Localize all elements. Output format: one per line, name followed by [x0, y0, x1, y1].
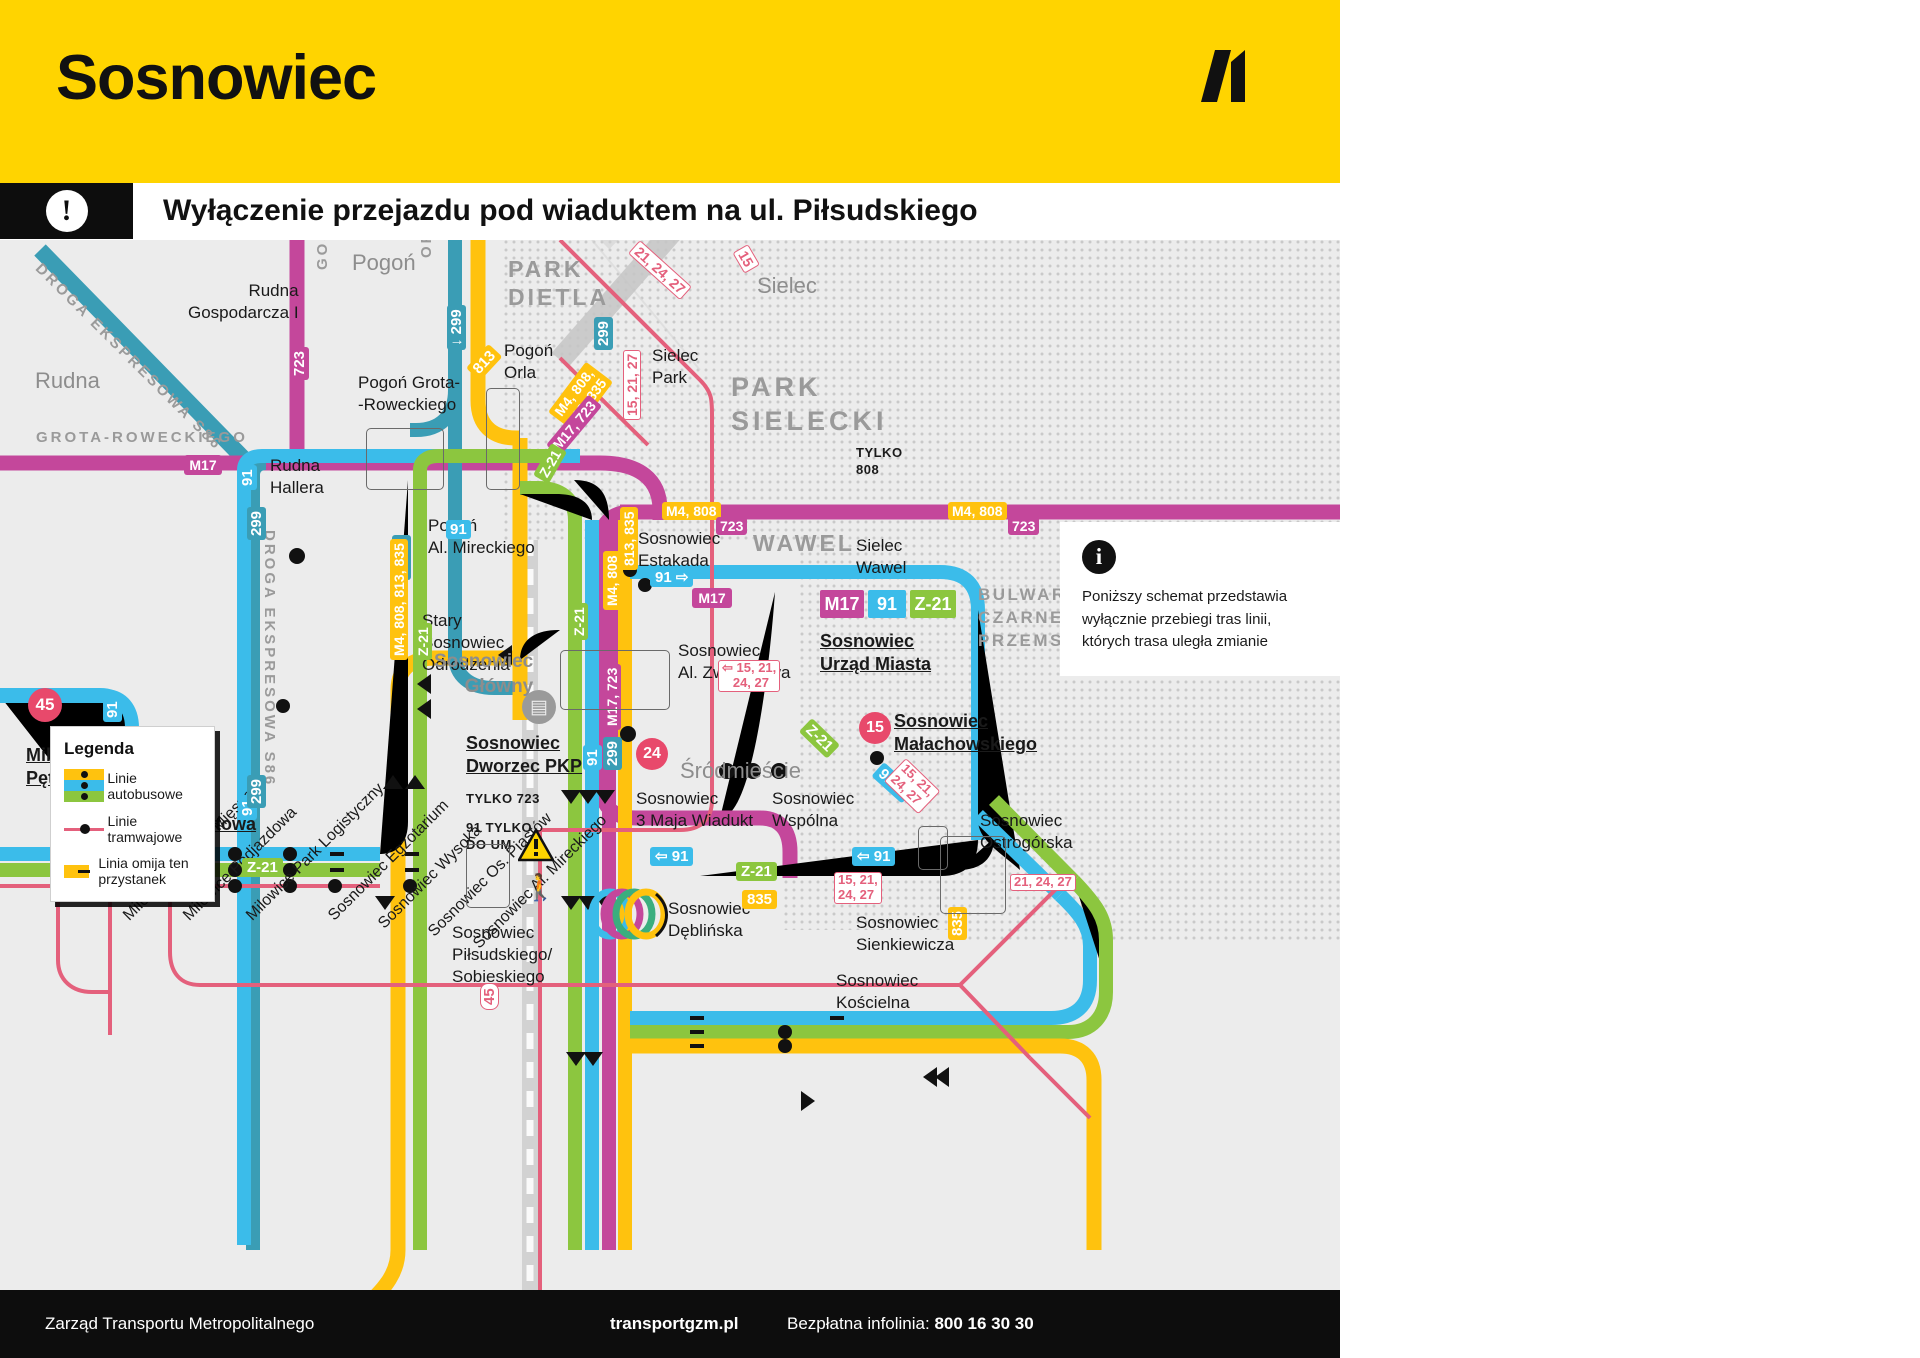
line-label-91-mid-left: 91: [583, 745, 602, 770]
legend-item-tram: Linie tramwajowe: [64, 813, 201, 845]
info-icon: i: [1082, 540, 1116, 574]
roadworks-icon: [518, 828, 554, 862]
annotation-tylko-723: TYLKO 723: [466, 792, 540, 807]
line-label-91-bundle: 91: [446, 520, 471, 539]
legend-label-bus: Linie autobusowe: [107, 770, 201, 802]
page-title: Sosnowiec: [56, 42, 376, 114]
street-label-gospodarcza: GOSPODARCZA: [314, 240, 331, 270]
line-label-z21-center: Z-21: [570, 603, 588, 640]
stop-box-pogon-grota: [366, 428, 444, 490]
bus-lines-swatch: [64, 769, 98, 803]
stop-box-wspolna: [918, 826, 948, 870]
line-label-299-lower: 299: [247, 775, 266, 808]
line-label-21-24-27-right: 21, 24, 27: [1010, 874, 1076, 891]
stop-label-sielec-wawel: SielecWawel: [856, 535, 906, 579]
tram-circle-45-petla: 45: [28, 688, 62, 722]
line-label-45-bottom: 45: [480, 983, 499, 1010]
line-label-m4-808-wawel-right: M4, 808: [948, 502, 1007, 520]
stop-label-sosnowiec-estakada: SosnowiecEstakada: [638, 528, 720, 572]
line-label-723-left: 723: [290, 347, 309, 380]
district-label-rudna: Rudna: [35, 368, 100, 393]
map-info-box: i Poniższy schemat przedstawia wyłącznie…: [1060, 522, 1340, 676]
line-badge-m17-um: M17: [820, 590, 864, 618]
stop-box-dworzec: [560, 650, 670, 710]
line-label-91-estakada: 91 ⇨: [650, 568, 693, 587]
poster: Sosnowiec ! Wyłączenie przejazdu pod wia…: [0, 0, 1340, 1358]
stop-label-rudna-hallera: RudnaHallera: [270, 455, 324, 499]
area-label-wawel: WAWEL: [753, 530, 855, 556]
district-label-srodmiescie: Śródmieście: [680, 758, 801, 783]
route-map: Pogoń Sielec Rudna Śródmieście PARKDIETL…: [0, 240, 1340, 1290]
line-label-z21-bundle-left: Z-21: [414, 623, 432, 660]
district-label-sielec: Sielec: [757, 273, 817, 298]
stop-box-ostrogorska: [940, 836, 1006, 914]
details-sidebar: Szczegóły PKP PLK SA rozpoczyna remont w…: [1340, 0, 1920, 1358]
stop-label-kosciela: SosnowiecKościelna: [836, 970, 918, 1014]
gzm-mark-icon: [588, 888, 672, 940]
street-label-grota-roweckiego: GROTA-ROWECKIEGO: [36, 429, 248, 446]
street-label-s86-left: DROGA EKSPRESOWA S86: [261, 530, 278, 800]
stop-label-urzad-miasta: SosnowiecUrząd Miasta: [820, 630, 931, 677]
header-band: Sosnowiec: [0, 0, 1340, 183]
line-badge-m17-mid: M17: [692, 588, 732, 608]
legend-label-skip: Linia omija ten przystanek: [98, 855, 201, 887]
map-info-text: Poniższy schemat przedstawia wyłącznie p…: [1082, 586, 1320, 654]
legend-title: Legenda: [64, 739, 201, 759]
line-label-723-wawel-left: 723: [716, 517, 747, 535]
line-label-91-bottom-right: ⇦ 91: [852, 847, 895, 866]
stop-label-wspolna: SosnowiecWspólna: [772, 788, 854, 832]
line-label-z21-bottom-left: Z-21: [242, 858, 283, 877]
stop-label-pogon-orla: PogońOrla: [504, 340, 553, 384]
line-label-299-sielec: 299: [594, 317, 613, 350]
train-icon: ▤: [522, 690, 556, 724]
footer-organisation: Zarząd Transportu Metropolitalnego: [45, 1290, 314, 1358]
line-label-299-mid: 299: [603, 737, 622, 770]
line-label-m4-808-wawel-left: M4, 808: [662, 502, 721, 520]
line-label-813-835-vert: 813, 835: [620, 508, 638, 571]
line-badge-m17-left: M17: [184, 455, 222, 475]
stop-label-dworzec-pkp: SosnowiecDworzec PKP: [466, 732, 582, 779]
alert-headline: Wyłączenie przejazdu pod wiaduktem na ul…: [163, 183, 978, 239]
line-label-z21-bottom: Z-21: [736, 862, 777, 881]
footer-website[interactable]: transportgzm.pl: [610, 1290, 738, 1358]
map-legend: Legenda Linie autobusowe: [50, 726, 215, 902]
footer-hotline: Bezpłatna infolinia: 800 16 30 30: [787, 1290, 1034, 1358]
line-label-723-wawel-right: 723: [1008, 517, 1039, 535]
stop-box-pogon-orla: [486, 388, 520, 490]
district-label-pogon: Pogoń: [352, 250, 416, 275]
pedestrian-icon: 🚶: [524, 874, 556, 900]
stop-label-pogon-grota: Pogoń Grota--Roweckiego: [358, 372, 460, 416]
stop-label-sienkiewicza: SosnowiecSienkiewicza: [856, 912, 954, 956]
line-label-15-21-24-27-bottom: 15, 21,24, 27: [834, 872, 882, 904]
stop-label-sielec-park: SielecPark: [652, 345, 698, 389]
tram-circle-15: 15: [859, 712, 891, 744]
legend-item-bus: Linie autobusowe: [64, 769, 201, 803]
stop-label-pogon-mireckiego: PogońAl. Mireckiego: [428, 515, 535, 559]
area-label-park-sielecki: PARKSIELECKI: [731, 371, 888, 439]
line-label-91-left: 91: [238, 465, 257, 490]
line-label-835-bottom: 835: [742, 890, 777, 909]
annotation-tylko-808: TYLKO808: [856, 445, 903, 479]
tram-circle-24: 24: [636, 738, 668, 770]
legend-item-skip: Linia omija ten przystanek: [64, 855, 201, 887]
line-label-m4-808-813-835-vert: M4, 808: [603, 551, 621, 610]
stop-box-pilsudskiego: [466, 844, 510, 908]
footer-hotline-label: Bezpłatna infolinia:: [787, 1314, 930, 1334]
gzm-logo: [1201, 50, 1277, 102]
footer-hotline-number: 800 16 30 30: [934, 1314, 1033, 1334]
line-label-299-top: ↓ 299: [447, 305, 466, 350]
poster-footer: Zarząd Transportu Metropolitalnego trans…: [0, 1290, 1340, 1358]
area-label-park-dietla: PARKDIETLA: [508, 255, 609, 311]
line-badge-91-um: 91: [868, 590, 906, 618]
line-label-91-bottom-left: ⇦ 91: [650, 847, 693, 866]
alert-icon-box: !: [0, 183, 133, 239]
stop-label-malachowskiego: SosnowiecMałachowskiego: [894, 710, 1037, 757]
line-label-91-milowice: 91: [103, 697, 122, 722]
station-label-glowny: SosnowiecGłówny: [434, 650, 533, 699]
stop-label-3-maja-wiadukt: Sosnowiec3 Maja Wiadukt: [636, 788, 753, 832]
line-label-15-21-27: 15, 21, 27: [623, 350, 641, 420]
line-badge-z21-um: Z-21: [910, 590, 956, 618]
stop-label-rudna-gospodarcza: RudnaGospodarcza I: [188, 280, 299, 324]
skip-stop-swatch: [64, 865, 89, 878]
exclamation-icon: !: [46, 190, 88, 232]
street-label-orla: ORLA: [418, 240, 435, 258]
line-label-299-left: 299: [247, 507, 266, 540]
legend-label-tram: Linie tramwajowe: [108, 813, 201, 845]
stop-label-deblinska: SosnowiecDęblińska: [668, 898, 750, 942]
line-label-m4-808-813-835: M4, 808, 813, 835: [390, 539, 408, 660]
tram-lines-swatch: [64, 823, 99, 835]
line-label-15-21-24-27-mid: ⇦ 15, 21, 24, 27: [718, 660, 780, 692]
